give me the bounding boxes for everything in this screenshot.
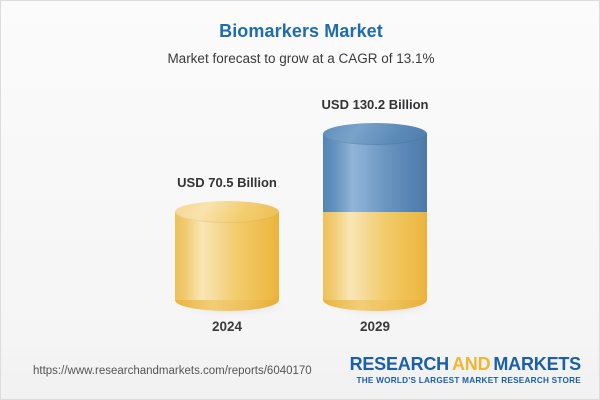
logo-word-research: RESEARCH bbox=[350, 354, 449, 374]
bar-value-label-2024: USD 70.5 Billion bbox=[177, 175, 277, 190]
footer: https://www.researchandmarkets.com/repor… bbox=[1, 347, 600, 399]
infographic-card: Biomarkers Market Market forecast to gro… bbox=[0, 0, 600, 400]
research-and-markets-logo[interactable]: RESEARCHANDMARKETS THE WORLD'S LARGEST M… bbox=[350, 355, 581, 385]
cylinder-body-2024 bbox=[175, 212, 279, 300]
category-label-2029: 2029 bbox=[360, 319, 390, 334]
bar-group-2024: USD 70.5 Billion 2024 bbox=[175, 1, 279, 341]
bar-value-label-2029: USD 130.2 Billion bbox=[322, 97, 429, 112]
cylinder-top-cap-2029 bbox=[323, 123, 427, 145]
cylinder-2029 bbox=[323, 123, 427, 311]
logo-word-and: AND bbox=[452, 354, 490, 374]
cylinder-top-cap-2024 bbox=[175, 201, 279, 223]
cylinder-2024 bbox=[175, 201, 279, 311]
cylinder-body-upper-2029 bbox=[323, 134, 427, 212]
bar-group-2029: USD 130.2 Billion 2029 bbox=[323, 1, 427, 341]
report-url[interactable]: https://www.researchandmarkets.com/repor… bbox=[33, 365, 312, 377]
cylinder-body-lower-2029 bbox=[323, 211, 427, 300]
category-label-2024: 2024 bbox=[212, 319, 242, 334]
logo-word-markets: MARKETS bbox=[493, 354, 581, 374]
logo-wordmark: RESEARCHANDMARKETS bbox=[350, 355, 581, 374]
bar-chart: USD 70.5 Billion 2024 USD 130.2 Billion bbox=[1, 1, 600, 341]
logo-tagline: THE WORLD'S LARGEST MARKET RESEARCH STOR… bbox=[350, 376, 581, 385]
